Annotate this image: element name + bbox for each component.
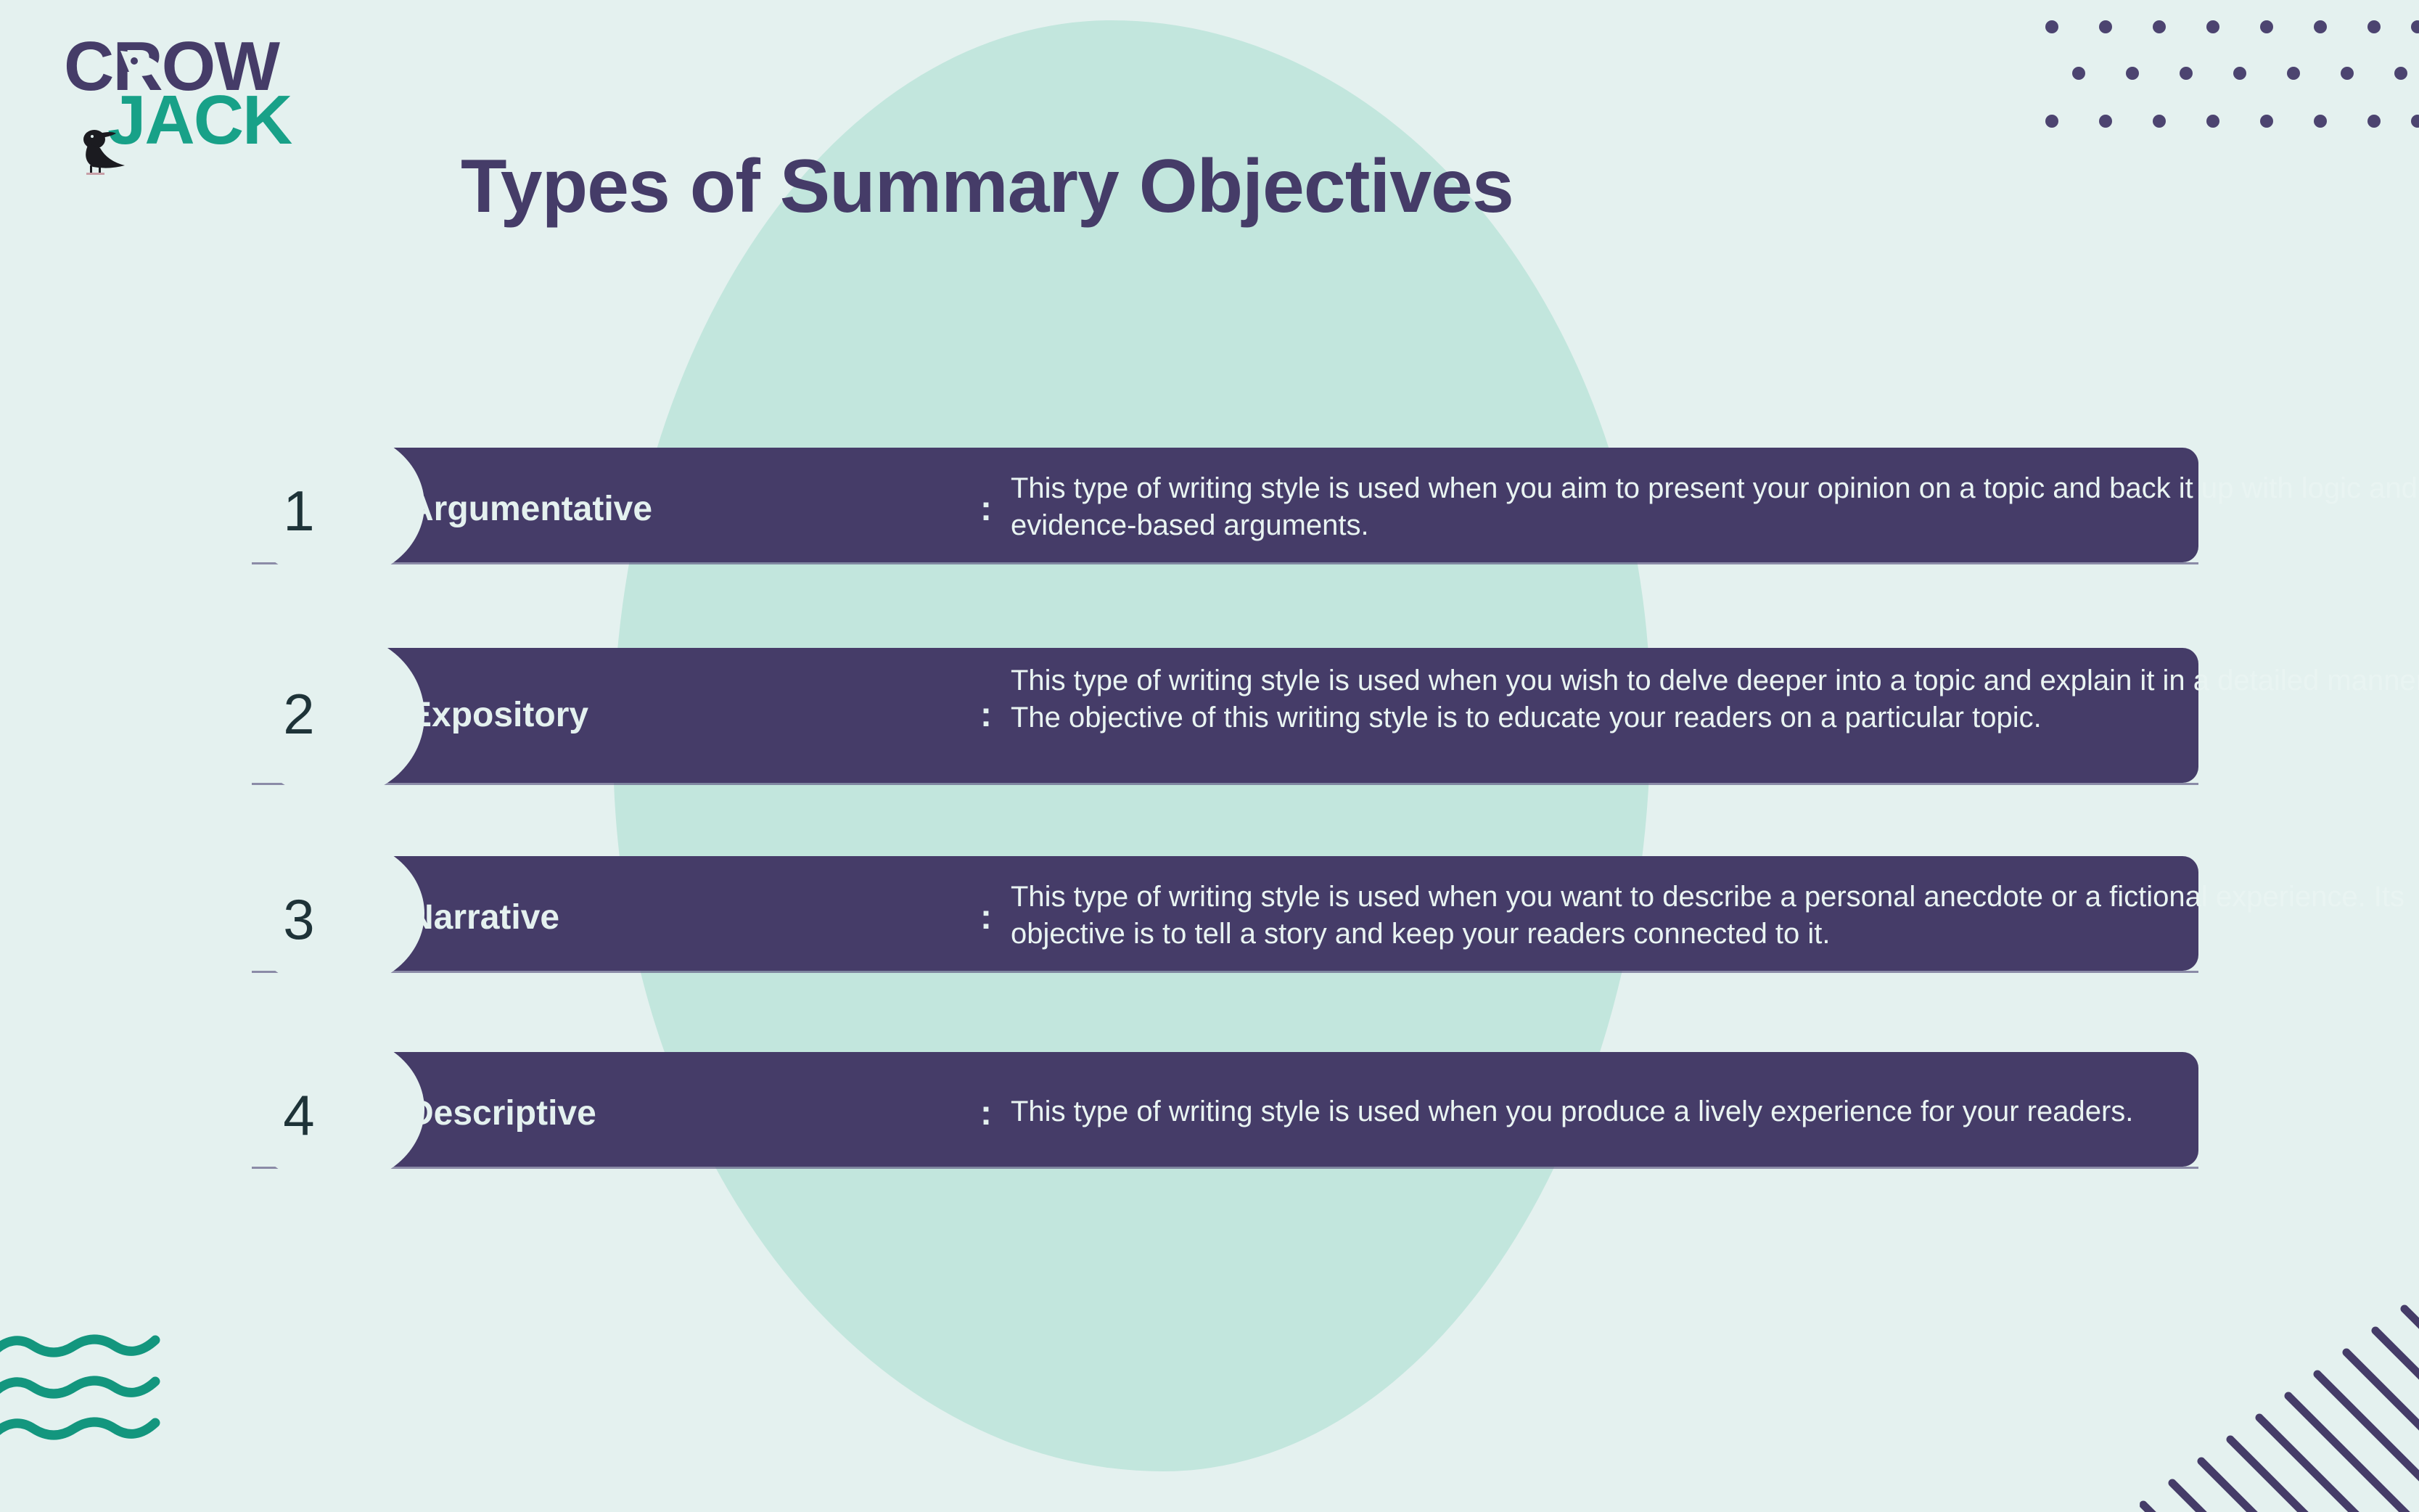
row-number: 4: [252, 1082, 346, 1149]
row-label: Argumentative: [408, 489, 648, 529]
row-underline: [252, 1167, 2198, 1169]
row-underline: [252, 971, 2198, 973]
row-label: Expository: [408, 695, 648, 735]
objectives-list: 1 Argumentative : This type of writing s…: [0, 0, 2419, 1512]
row-separator: :: [980, 695, 992, 735]
row-description: This type of writing style is used when …: [1011, 470, 2419, 544]
row-separator: :: [980, 489, 992, 529]
row-underline: [252, 562, 2198, 564]
row-number: 3: [252, 887, 346, 953]
row-label: Descriptive: [408, 1093, 648, 1133]
row-description: This type of writing style is used when …: [1011, 879, 2419, 953]
row-number: 2: [252, 681, 346, 747]
row-label: Narrative: [408, 897, 648, 937]
row-separator: :: [980, 897, 992, 937]
row-separator: :: [980, 1093, 992, 1133]
row-underline: [252, 783, 2198, 785]
row-description: This type of writing style is used when …: [1011, 1093, 2419, 1130]
row-number: 1: [252, 478, 346, 544]
row-description: This type of writing style is used when …: [1011, 662, 2419, 736]
